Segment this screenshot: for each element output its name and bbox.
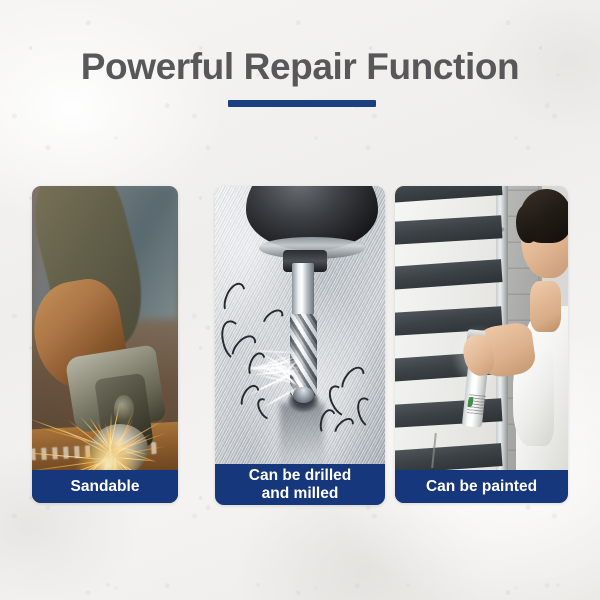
infographic-page: Powerful Repair Function Sandable	[0, 0, 600, 600]
panel-label-line1: Can be painted	[426, 478, 537, 495]
bit-shank	[292, 263, 314, 320]
photo-spray-painting	[395, 186, 568, 503]
panel-label-painted: Can be painted	[395, 470, 568, 503]
feature-panel-painted[interactable]: Can be painted	[395, 186, 568, 503]
person-neck	[530, 281, 561, 332]
feature-panel-sandable[interactable]: Sandable	[32, 186, 178, 503]
panel-label-line2: and milled	[249, 485, 352, 502]
panel-label-line1: Sandable	[71, 478, 140, 495]
title-underline-accent	[228, 100, 376, 107]
bit-flutes	[290, 314, 317, 397]
photo-drill-bit	[215, 186, 385, 505]
feature-panel-drilled-milled[interactable]: Can be drilled and milled	[215, 186, 385, 505]
page-title: Powerful Repair Function	[0, 46, 600, 88]
person-hair-side	[516, 205, 537, 243]
angle-grinder-knob	[114, 395, 134, 424]
panel-label-drilled-milled: Can be drilled and milled	[215, 464, 385, 505]
feature-panels: Sandable Can be drilled	[0, 186, 600, 506]
photo-angle-grinder	[32, 186, 178, 503]
panel-label-line1: Can be drilled	[249, 467, 352, 484]
panel-label-sandable: Sandable	[32, 470, 178, 503]
bit-tip	[293, 387, 313, 403]
